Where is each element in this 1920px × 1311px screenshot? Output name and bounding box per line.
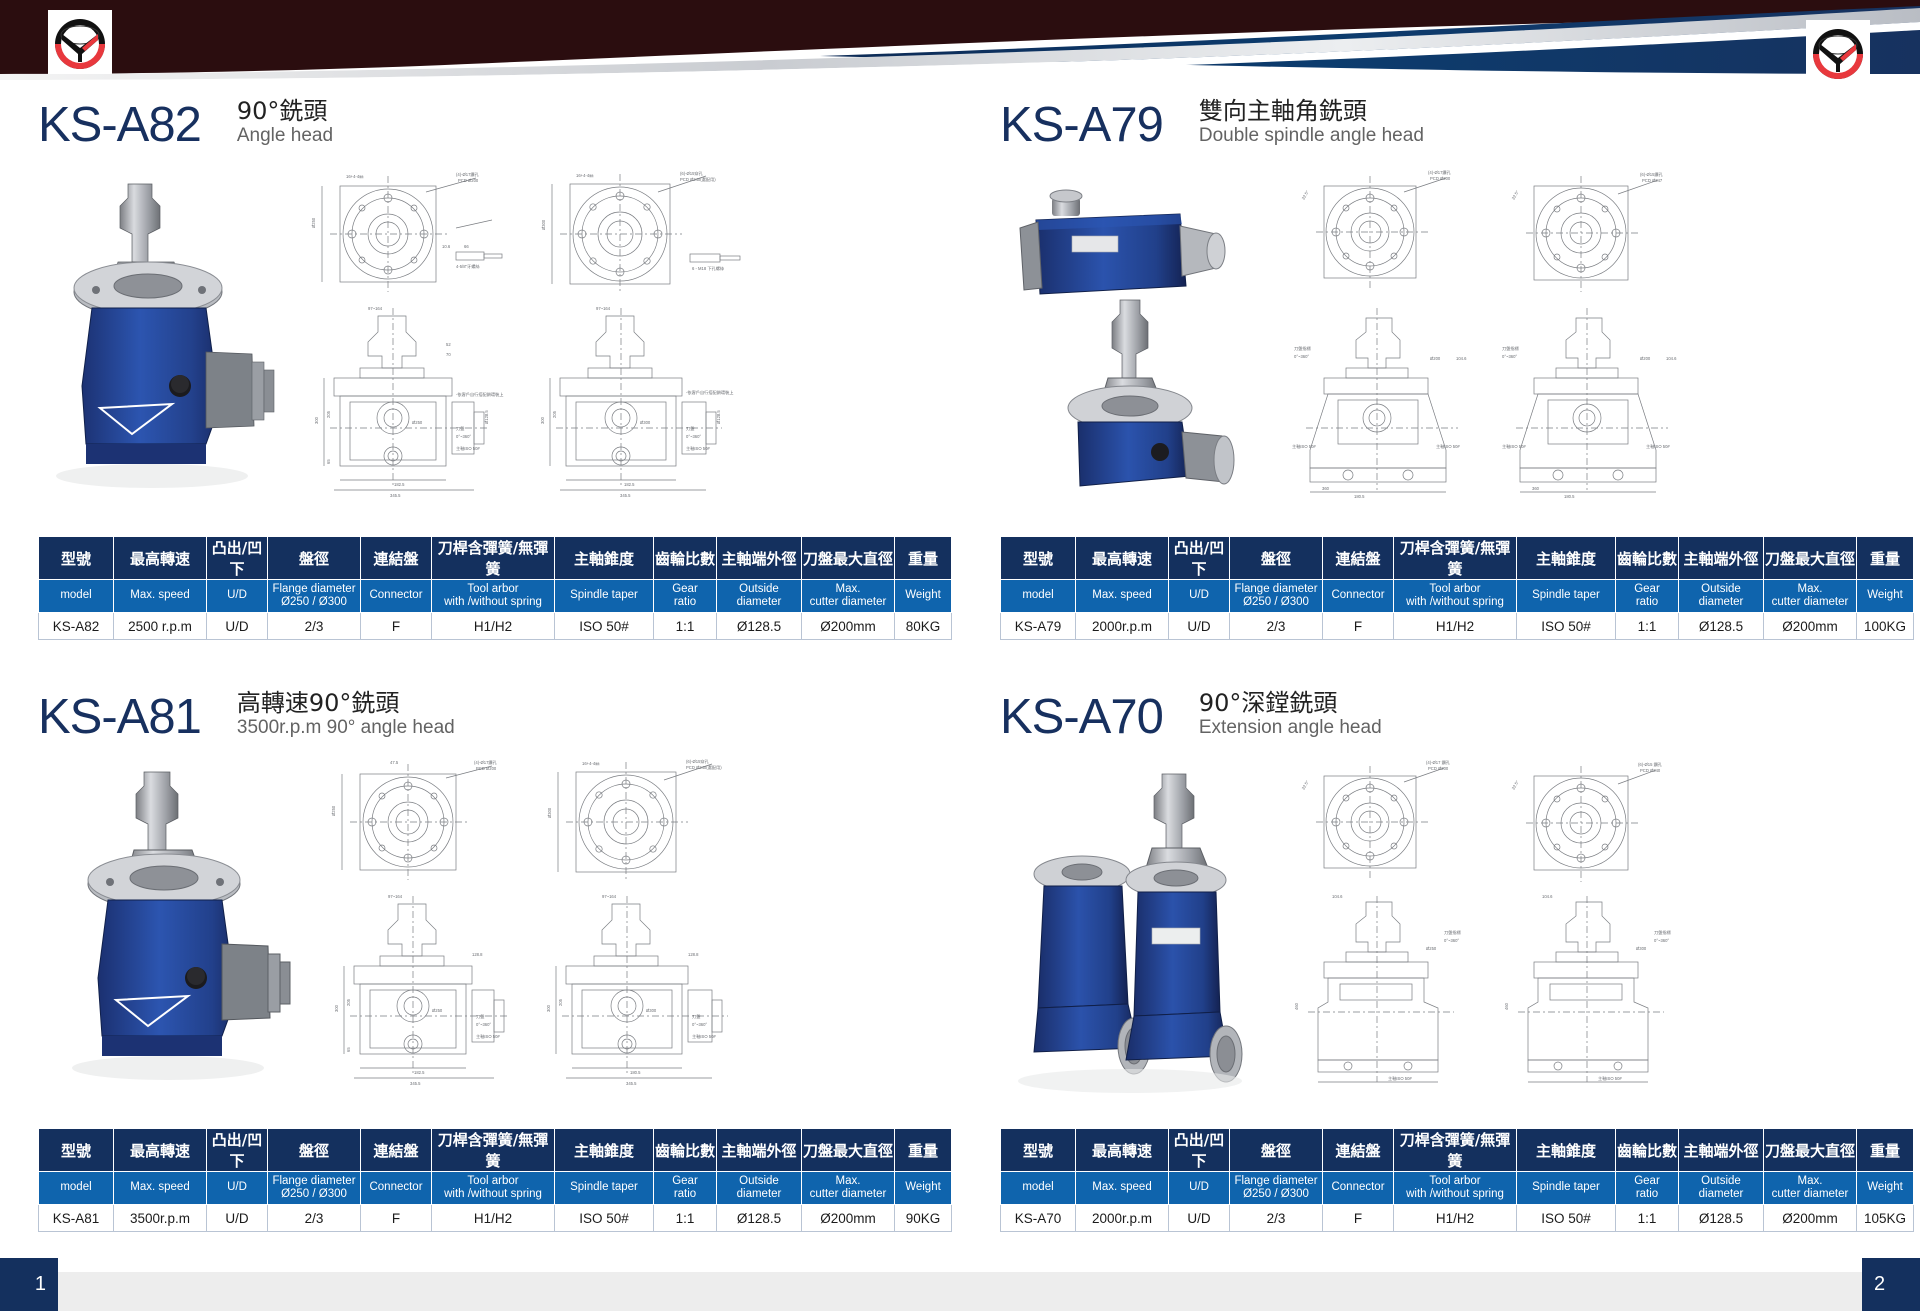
cell-max-speed: 2000r.p.m bbox=[1076, 613, 1169, 640]
spec-table-ks-a70: 型號 最高轉速 凸出/凹下 盤徑 連結盤 刀桿含彈簧/無彈簧 主軸錐度 齒輪比數… bbox=[1000, 1128, 1914, 1232]
svg-text:205: 205 bbox=[346, 998, 351, 1006]
svg-text:主軸ISO 50#: 主軸ISO 50# bbox=[1436, 443, 1460, 450]
svg-text:(6)-Ø15穿孔: (6)-Ø15穿孔 bbox=[686, 758, 710, 765]
th-en-connector: Connector bbox=[1323, 1172, 1394, 1205]
cell-tool-arbor: H1/H2 bbox=[432, 1205, 555, 1232]
svg-text:205: 205 bbox=[558, 998, 563, 1006]
logo-left bbox=[48, 10, 112, 74]
th-cn-max-speed: 最高轉速 bbox=[114, 1129, 207, 1172]
th-en-ud: U/D bbox=[207, 580, 268, 613]
cell-cutter-dia: Ø200mm bbox=[802, 1205, 895, 1232]
th-en-tool-arbor: Tool arborwith /without spring bbox=[1394, 1172, 1517, 1205]
svg-text:Ø300: Ø300 bbox=[1636, 946, 1647, 951]
technical-drawing-face-view: (4)-Ø17鑽孔PCD Ø200 47.5 Ø250 bbox=[326, 756, 536, 882]
th-cn-ud: 凸出/凹下 bbox=[1169, 537, 1230, 580]
footer-bar bbox=[0, 1272, 1920, 1311]
svg-text:345.5: 345.5 bbox=[390, 493, 401, 498]
product-block-ks-a82: KS-A82 90°銑頭 Angle head bbox=[38, 88, 943, 640]
technical-drawing-section-view-alt: 97~164 128.8 刀盤0°~360° 主軸ISO 50# 180.5 3… bbox=[536, 886, 764, 1086]
table-header-row-cn: 型號 最高轉速 凸出/凹下 盤徑 連結盤 刀桿含彈簧/無彈簧 主軸錐度 齒輪比數… bbox=[1001, 1129, 1914, 1172]
svg-text:刀盤指標: 刀盤指標 bbox=[1444, 929, 1462, 936]
svg-text:刀盤指標: 刀盤指標 bbox=[1294, 345, 1312, 352]
technical-drawing-section-view: 97~164 5270 -依客戶自行搭配鎖環裝上 刀盤0°~360° 主軸ISO… bbox=[306, 298, 522, 498]
th-en-max-speed: Max. speed bbox=[114, 1172, 207, 1205]
svg-text:97~164: 97~164 bbox=[368, 306, 383, 311]
th-en-flange: Flange diameterØ250 / Ø300 bbox=[268, 1172, 361, 1205]
svg-text:22.5°: 22.5° bbox=[1511, 779, 1520, 790]
th-cn-spindle-taper: 主軸錐度 bbox=[555, 537, 654, 580]
th-cn-max-speed: 最高轉速 bbox=[1076, 1129, 1169, 1172]
product-model-name: KS-A70 bbox=[1000, 693, 1163, 742]
th-en-model: model bbox=[39, 1172, 114, 1205]
svg-text:Ø250: Ø250 bbox=[412, 420, 423, 425]
cell-max-speed: 2000r.p.m bbox=[1076, 1205, 1169, 1232]
technical-drawing-section-view: Ø200104.6 刀盤指標0°~360° 主軸ISO 50# 主軸ISO 50… bbox=[1288, 300, 1488, 500]
cell-model: KS-A82 bbox=[39, 613, 114, 640]
th-en-ud: U/D bbox=[1169, 580, 1230, 613]
svg-text:Ø250: Ø250 bbox=[311, 217, 316, 228]
page-number-right: 2 bbox=[1862, 1258, 1920, 1311]
th-cn-model: 型號 bbox=[1001, 1129, 1076, 1172]
th-cn-outside-dia: 主軸端外徑 bbox=[717, 1129, 802, 1172]
th-cn-model: 型號 bbox=[39, 537, 114, 580]
svg-text:主軸ISO 50#: 主軸ISO 50# bbox=[1292, 443, 1316, 450]
th-cn-connector: 連結盤 bbox=[1323, 537, 1394, 580]
svg-text:刀盤: 刀盤 bbox=[476, 1013, 485, 1020]
cell-outside-dia: Ø128.5 bbox=[717, 1205, 802, 1232]
th-en-spindle-taper: Spindle taper bbox=[555, 580, 654, 613]
svg-text:16+4-4㎜: 16+4-4㎜ bbox=[576, 173, 594, 178]
svg-text:Ø128.5: Ø128.5 bbox=[716, 410, 721, 424]
cell-ud: U/D bbox=[1169, 613, 1230, 640]
svg-text:4-5/8"牙螺絲: 4-5/8"牙螺絲 bbox=[456, 263, 480, 270]
th-en-gear-ratio: Gearratio bbox=[654, 580, 717, 613]
cell-weight: 80KG bbox=[895, 613, 952, 640]
svg-text:刀盤: 刀盤 bbox=[686, 425, 695, 432]
svg-text:0°~360°: 0°~360° bbox=[692, 1022, 707, 1027]
th-cn-model: 型號 bbox=[1001, 537, 1076, 580]
th-cn-cutter-dia: 刀盤最大直徑 bbox=[1764, 1129, 1857, 1172]
svg-text:PCD Ø240: PCD Ø240 bbox=[1640, 768, 1661, 773]
technical-drawing-face-view-alt: (6)-Ø15 鑽孔PCD Ø240 22.5° bbox=[1498, 756, 1698, 886]
table-header-row-en: model Max. speed U/D Flange diameterØ250… bbox=[39, 580, 952, 613]
svg-text:主軸ISO 50#: 主軸ISO 50# bbox=[1598, 1075, 1622, 1082]
cell-weight: 105KG bbox=[1857, 1205, 1914, 1232]
th-en-spindle-taper: Spindle taper bbox=[1517, 1172, 1616, 1205]
svg-text:PCD Ø200: PCD Ø200 bbox=[458, 178, 479, 183]
cell-ud: U/D bbox=[1169, 1205, 1230, 1232]
svg-text:65: 65 bbox=[346, 1047, 351, 1052]
svg-text:PCD Ø200: PCD Ø200 bbox=[1428, 766, 1449, 771]
th-cn-cutter-dia: 刀盤最大直徑 bbox=[802, 537, 895, 580]
th-en-connector: Connector bbox=[361, 1172, 432, 1205]
svg-text:0°~360°: 0°~360° bbox=[1294, 354, 1309, 359]
svg-text:182.5: 182.5 bbox=[414, 1070, 425, 1075]
th-cn-flange: 盤徑 bbox=[268, 537, 361, 580]
svg-text:180.5: 180.5 bbox=[1354, 494, 1365, 499]
svg-text:(6)-Ø15 鑽孔: (6)-Ø15 鑽孔 bbox=[1638, 761, 1663, 768]
product-title-row: KS-A79 雙向主軸角銑頭 Double spindle angle head bbox=[1000, 88, 1905, 150]
cell-gear-ratio: 1:1 bbox=[1616, 613, 1679, 640]
product-photo bbox=[68, 766, 318, 1106]
company-logo-icon bbox=[1806, 20, 1870, 84]
svg-text:Ø250: Ø250 bbox=[432, 1008, 443, 1013]
th-cn-spindle-taper: 主軸錐度 bbox=[555, 1129, 654, 1172]
th-cn-gear-ratio: 齒輪比數 bbox=[654, 537, 717, 580]
th-en-ud: U/D bbox=[207, 1172, 268, 1205]
spec-table-ks-a81: 型號 最高轉速 凸出/凹下 盤徑 連結盤 刀桿含彈簧/無彈簧 主軸錐度 齒輪比數… bbox=[38, 1128, 952, 1232]
cell-outside-dia: Ø128.5 bbox=[1679, 613, 1764, 640]
technical-drawing-face-view: (4)-Ø17鑽孔PCD Ø200 16+4-4㎜ 4-5/8"牙螺絲 10.6… bbox=[306, 168, 522, 294]
technical-drawing-face-view-alt: (6)-Ø15鑽孔PCD Ø247 22.5° bbox=[1498, 166, 1698, 296]
cell-outside-dia: Ø128.5 bbox=[1679, 1205, 1764, 1232]
svg-text:PCD Ø200: PCD Ø200 bbox=[476, 766, 497, 771]
cell-gear-ratio: 1:1 bbox=[654, 1205, 717, 1232]
cell-gear-ratio: 1:1 bbox=[654, 613, 717, 640]
svg-text:182.5: 182.5 bbox=[394, 482, 405, 487]
svg-text:104.6: 104.6 bbox=[1666, 356, 1677, 361]
svg-text:0°~360°: 0°~360° bbox=[1502, 354, 1517, 359]
technical-drawing-face-view: (4)-Ø17鑽孔PCD Ø200 22.5° bbox=[1288, 166, 1488, 296]
cell-flange: 2/3 bbox=[1230, 613, 1323, 640]
svg-text:345.5: 345.5 bbox=[410, 1081, 421, 1086]
th-en-max-speed: Max. speed bbox=[114, 580, 207, 613]
product-photo bbox=[1010, 164, 1270, 514]
th-cn-flange: 盤徑 bbox=[1230, 1129, 1323, 1172]
figure-area: (4)-Ø17 鑽孔PCD Ø200 22.5° bbox=[1000, 750, 1905, 1122]
svg-text:104.6: 104.6 bbox=[1456, 356, 1467, 361]
svg-text:182.5: 182.5 bbox=[624, 482, 635, 487]
figure-area: (4)-Ø17鑽孔PCD Ø200 47.5 Ø250 bbox=[38, 750, 943, 1122]
cell-spindle-taper: ISO 50# bbox=[1517, 1205, 1616, 1232]
svg-text:128.8: 128.8 bbox=[688, 952, 699, 957]
th-en-gear-ratio: Gearratio bbox=[1616, 1172, 1679, 1205]
product-model-name: KS-A82 bbox=[38, 101, 201, 150]
svg-text:10.6: 10.6 bbox=[442, 244, 451, 249]
th-cn-weight: 重量 bbox=[895, 537, 952, 580]
svg-text:0°~360°: 0°~360° bbox=[1654, 938, 1669, 943]
th-cn-weight: 重量 bbox=[895, 1129, 952, 1172]
th-cn-connector: 連結盤 bbox=[361, 1129, 432, 1172]
spec-table-ks-a82: 型號 最高轉速 凸出/凹下 盤徑 連結盤 刀桿含彈簧/無彈簧 主軸錐度 齒輪比數… bbox=[38, 536, 952, 640]
th-cn-tool-arbor: 刀桿含彈簧/無彈簧 bbox=[432, 537, 555, 580]
technical-drawing-face-view-alt: (6)-Ø15穿孔PCD Ø240(選配用) 16+4-4㎜ 6 - M18 下… bbox=[530, 168, 760, 294]
th-en-connector: Connector bbox=[1323, 580, 1394, 613]
th-cn-model: 型號 bbox=[39, 1129, 114, 1172]
svg-text:16+4-4㎜: 16+4-4㎜ bbox=[582, 761, 600, 766]
svg-text:Ø250: Ø250 bbox=[331, 805, 336, 816]
technical-drawing-face-view: (4)-Ø17 鑽孔PCD Ø200 22.5° bbox=[1288, 756, 1488, 886]
svg-text:PCD Ø247: PCD Ø247 bbox=[1642, 178, 1663, 183]
header-banner-graphic bbox=[0, 0, 1920, 96]
technical-drawing-section-view: 97~164 128.8 刀盤0°~360° 主軸ISO 50# 182.5 3… bbox=[326, 886, 536, 1086]
svg-text:16+4-4㎜: 16+4-4㎜ bbox=[346, 174, 364, 179]
svg-text:104.6: 104.6 bbox=[1332, 894, 1343, 899]
th-en-cutter-dia: Max.cutter diameter bbox=[1764, 1172, 1857, 1205]
cell-tool-arbor: H1/H2 bbox=[432, 613, 555, 640]
cell-max-speed: 2500 r.p.m bbox=[114, 613, 207, 640]
table-header-row-en: model Max. speed U/D Flange diameterØ250… bbox=[39, 1172, 952, 1205]
th-en-gear-ratio: Gearratio bbox=[1616, 580, 1679, 613]
th-en-outside-dia: Outsidediameter bbox=[1679, 580, 1764, 613]
page-number-left: 1 bbox=[0, 1258, 58, 1311]
svg-text:0°~360°: 0°~360° bbox=[1444, 938, 1459, 943]
th-en-spindle-taper: Spindle taper bbox=[1517, 580, 1616, 613]
svg-text:PCD Ø240(選配用): PCD Ø240(選配用) bbox=[680, 176, 716, 183]
svg-text:0°~360°: 0°~360° bbox=[686, 434, 701, 439]
svg-text:刀盤: 刀盤 bbox=[692, 1013, 701, 1020]
th-cn-spindle-taper: 主軸錐度 bbox=[1517, 1129, 1616, 1172]
product-title-row: KS-A81 高轉速90°銑頭 3500r.p.m 90° angle head bbox=[38, 680, 943, 742]
product-title-cn: 雙向主軸角銑頭 bbox=[1199, 98, 1424, 126]
svg-text:22.5°: 22.5° bbox=[1301, 779, 1310, 790]
product-title-en: 3500r.p.m 90° angle head bbox=[237, 717, 455, 740]
table-row: KS-A82 2500 r.p.m U/D 2/3 F H1/H2 ISO 50… bbox=[39, 613, 952, 640]
cell-cutter-dia: Ø200mm bbox=[802, 613, 895, 640]
svg-text:Ø250: Ø250 bbox=[1426, 946, 1437, 951]
svg-text:主軸ISO 50#: 主軸ISO 50# bbox=[692, 1033, 716, 1040]
th-en-flange: Flange diameterØ250 / Ø300 bbox=[1230, 580, 1323, 613]
svg-text:22.5°: 22.5° bbox=[1301, 189, 1310, 200]
svg-text:Ø300: Ø300 bbox=[640, 420, 651, 425]
cell-tool-arbor: H1/H2 bbox=[1394, 613, 1517, 640]
th-cn-flange: 盤徑 bbox=[1230, 537, 1323, 580]
table-header-row-cn: 型號 最高轉速 凸出/凹下 盤徑 連結盤 刀桿含彈簧/無彈簧 主軸錐度 齒輪比數… bbox=[39, 537, 952, 580]
svg-text:70: 70 bbox=[446, 352, 451, 357]
th-cn-spindle-taper: 主軸錐度 bbox=[1517, 537, 1616, 580]
table-row: KS-A79 2000r.p.m U/D 2/3 F H1/H2 ISO 50#… bbox=[1001, 613, 1914, 640]
product-title-cn: 90°銑頭 bbox=[237, 98, 333, 126]
th-en-tool-arbor: Tool arborwith /without spring bbox=[432, 580, 555, 613]
svg-text:(4)-Ø17鑽孔: (4)-Ø17鑽孔 bbox=[474, 759, 498, 766]
cell-weight: 90KG bbox=[895, 1205, 952, 1232]
th-cn-cutter-dia: 刀盤最大直徑 bbox=[802, 1129, 895, 1172]
svg-text:97~164: 97~164 bbox=[596, 306, 611, 311]
cell-spindle-taper: ISO 50# bbox=[555, 1205, 654, 1232]
svg-text:(4)-Ø17 鑽孔: (4)-Ø17 鑽孔 bbox=[1426, 759, 1451, 766]
table-row: KS-A81 3500r.p.m U/D 2/3 F H1/H2 ISO 50#… bbox=[39, 1205, 952, 1232]
technical-drawing-section-view-alt: Ø300 刀盤指標0°~360° 主軸ISO 50# 460 104.6 bbox=[1498, 890, 1698, 1090]
th-cn-gear-ratio: 齒輪比數 bbox=[1616, 1129, 1679, 1172]
th-en-flange: Flange diameterØ250 / Ø300 bbox=[1230, 1172, 1323, 1205]
th-en-model: model bbox=[1001, 580, 1076, 613]
svg-text:300: 300 bbox=[546, 1004, 551, 1012]
cell-tool-arbor: H1/H2 bbox=[1394, 1205, 1517, 1232]
th-cn-weight: 重量 bbox=[1857, 537, 1914, 580]
cell-flange: 2/3 bbox=[1230, 1205, 1323, 1232]
svg-text:主軸ISO 50#: 主軸ISO 50# bbox=[1646, 443, 1670, 450]
svg-text:-依客戶自行搭配鎖環裝上: -依客戶自行搭配鎖環裝上 bbox=[456, 391, 503, 398]
th-en-cutter-dia: Max.cutter diameter bbox=[802, 1172, 895, 1205]
svg-text:主軸ISO 50#: 主軸ISO 50# bbox=[1388, 1075, 1412, 1082]
th-cn-outside-dia: 主軸端外徑 bbox=[717, 537, 802, 580]
product-title-row: KS-A70 90°深鏜銑頭 Extension angle head bbox=[1000, 680, 1905, 742]
svg-text:300: 300 bbox=[540, 416, 545, 424]
cell-connector: F bbox=[361, 613, 432, 640]
svg-text:-依客戶自行搭配鎖環裝上: -依客戶自行搭配鎖環裝上 bbox=[686, 389, 733, 396]
svg-text:205: 205 bbox=[552, 410, 557, 418]
cell-connector: F bbox=[1323, 613, 1394, 640]
cell-cutter-dia: Ø200mm bbox=[1764, 613, 1857, 640]
th-cn-max-speed: 最高轉速 bbox=[1076, 537, 1169, 580]
svg-text:Ø200: Ø200 bbox=[1640, 356, 1651, 361]
svg-text:180.5: 180.5 bbox=[630, 1070, 641, 1075]
svg-text:刀盤: 刀盤 bbox=[456, 425, 465, 432]
svg-text:205: 205 bbox=[326, 410, 331, 418]
svg-text:97~164: 97~164 bbox=[602, 894, 617, 899]
th-en-model: model bbox=[1001, 1172, 1076, 1205]
svg-text:0°~360°: 0°~360° bbox=[456, 434, 471, 439]
svg-text:6 - M18 下孔螺絲: 6 - M18 下孔螺絲 bbox=[692, 265, 725, 272]
svg-text:360: 360 bbox=[1322, 486, 1330, 491]
cell-flange: 2/3 bbox=[268, 1205, 361, 1232]
cell-flange: 2/3 bbox=[268, 613, 361, 640]
svg-text:460: 460 bbox=[1504, 1002, 1509, 1010]
product-block-ks-a70: KS-A70 90°深鏜銑頭 Extension angle head bbox=[1000, 680, 1905, 1232]
logo-right bbox=[1806, 20, 1870, 84]
th-cn-max-speed: 最高轉速 bbox=[114, 537, 207, 580]
th-en-tool-arbor: Tool arborwith /without spring bbox=[432, 1172, 555, 1205]
svg-text:52: 52 bbox=[446, 342, 451, 347]
table-header-row-cn: 型號 最高轉速 凸出/凹下 盤徑 連結盤 刀桿含彈簧/無彈簧 主軸錐度 齒輪比數… bbox=[1001, 537, 1914, 580]
svg-text:PCD Ø200: PCD Ø200 bbox=[1430, 176, 1451, 181]
th-en-spindle-taper: Spindle taper bbox=[555, 1172, 654, 1205]
cell-spindle-taper: ISO 50# bbox=[555, 613, 654, 640]
product-block-ks-a79: KS-A79 雙向主軸角銑頭 Double spindle angle head bbox=[1000, 88, 1905, 640]
th-en-model: model bbox=[39, 580, 114, 613]
table-header-row-en: model Max. speed U/D Flange diameterØ250… bbox=[1001, 580, 1914, 613]
th-cn-outside-dia: 主軸端外徑 bbox=[1679, 1129, 1764, 1172]
product-title-en: Double spindle angle head bbox=[1199, 125, 1424, 148]
th-en-outside-dia: Outsidediameter bbox=[717, 580, 802, 613]
technical-drawing-section-view: Ø250 刀盤指標0°~360° 主軸ISO 50# 460 104.6 bbox=[1288, 890, 1488, 1090]
table-header-row-en: model Max. speed U/D Flange diameterØ250… bbox=[1001, 1172, 1914, 1205]
product-title-cn: 90°深鏜銑頭 bbox=[1199, 690, 1382, 718]
th-cn-flange: 盤徑 bbox=[268, 1129, 361, 1172]
th-en-gear-ratio: Gearratio bbox=[654, 1172, 717, 1205]
th-cn-gear-ratio: 齒輪比數 bbox=[1616, 537, 1679, 580]
th-en-tool-arbor: Tool arborwith /without spring bbox=[1394, 580, 1517, 613]
svg-text:345.5: 345.5 bbox=[626, 1081, 637, 1086]
th-cn-ud: 凸出/凹下 bbox=[1169, 1129, 1230, 1172]
technical-drawing-section-view-alt: Ø200104.6 刀盤指標0°~360° 主軸ISO 50# 主軸ISO 50… bbox=[1498, 300, 1698, 500]
th-cn-connector: 連結盤 bbox=[1323, 1129, 1394, 1172]
product-model-name: KS-A81 bbox=[38, 693, 201, 742]
cell-connector: F bbox=[1323, 1205, 1394, 1232]
th-en-connector: Connector bbox=[361, 580, 432, 613]
th-cn-ud: 凸出/凹下 bbox=[207, 1129, 268, 1172]
svg-text:Ø200: Ø200 bbox=[1430, 356, 1441, 361]
svg-text:128.8: 128.8 bbox=[472, 952, 483, 957]
svg-text:Ø300: Ø300 bbox=[547, 807, 552, 818]
page-header bbox=[0, 0, 1920, 96]
svg-text:0°~360°: 0°~360° bbox=[476, 1022, 491, 1027]
th-en-weight: Weight bbox=[1857, 1172, 1914, 1205]
svg-text:47.5: 47.5 bbox=[390, 760, 399, 765]
th-cn-connector: 連結盤 bbox=[361, 537, 432, 580]
th-en-ud: U/D bbox=[1169, 1172, 1230, 1205]
svg-text:104.6: 104.6 bbox=[1542, 894, 1553, 899]
cell-cutter-dia: Ø200mm bbox=[1764, 1205, 1857, 1232]
product-photo bbox=[56, 176, 296, 516]
th-en-max-speed: Max. speed bbox=[1076, 580, 1169, 613]
svg-text:主軸ISO 50#: 主軸ISO 50# bbox=[456, 445, 480, 452]
svg-text:主軸ISO 50#: 主軸ISO 50# bbox=[686, 445, 710, 452]
table-row: KS-A70 2000r.p.m U/D 2/3 F H1/H2 ISO 50#… bbox=[1001, 1205, 1914, 1232]
th-en-weight: Weight bbox=[895, 1172, 952, 1205]
th-cn-tool-arbor: 刀桿含彈簧/無彈簧 bbox=[432, 1129, 555, 1172]
cell-ud: U/D bbox=[207, 1205, 268, 1232]
svg-text:180.5: 180.5 bbox=[1564, 494, 1575, 499]
cell-model: KS-A81 bbox=[39, 1205, 114, 1232]
svg-text:Ø300: Ø300 bbox=[646, 1008, 657, 1013]
svg-text:97~164: 97~164 bbox=[388, 894, 403, 899]
figure-area: (4)-Ø17鑽孔PCD Ø200 22.5° bbox=[1000, 158, 1905, 530]
svg-text:刀盤指標: 刀盤指標 bbox=[1654, 929, 1672, 936]
spec-table-ks-a79: 型號 最高轉速 凸出/凹下 盤徑 連結盤 刀桿含彈簧/無彈簧 主軸錐度 齒輪比數… bbox=[1000, 536, 1914, 640]
product-title-en: Extension angle head bbox=[1199, 717, 1382, 740]
th-en-outside-dia: Outsidediameter bbox=[717, 1172, 802, 1205]
product-model-name: KS-A79 bbox=[1000, 101, 1163, 150]
svg-text:PCD Ø240(選配用): PCD Ø240(選配用) bbox=[686, 764, 722, 771]
svg-text:345.5: 345.5 bbox=[620, 493, 631, 498]
svg-text:65: 65 bbox=[326, 459, 331, 464]
table-header-row-cn: 型號 最高轉速 凸出/凹下 盤徑 連結盤 刀桿含彈簧/無彈簧 主軸錐度 齒輪比數… bbox=[39, 1129, 952, 1172]
th-en-outside-dia: Outsidediameter bbox=[1679, 1172, 1764, 1205]
cell-model: KS-A70 bbox=[1001, 1205, 1076, 1232]
svg-text:Ø128.5: Ø128.5 bbox=[484, 410, 489, 424]
th-cn-ud: 凸出/凹下 bbox=[207, 537, 268, 580]
th-cn-outside-dia: 主軸端外徑 bbox=[1679, 537, 1764, 580]
cell-max-speed: 3500r.p.m bbox=[114, 1205, 207, 1232]
product-title-cn: 高轉速90°銑頭 bbox=[237, 690, 455, 718]
th-cn-tool-arbor: 刀桿含彈簧/無彈簧 bbox=[1394, 537, 1517, 580]
product-title-row: KS-A82 90°銑頭 Angle head bbox=[38, 88, 943, 150]
th-en-cutter-dia: Max.cutter diameter bbox=[802, 580, 895, 613]
cell-ud: U/D bbox=[207, 613, 268, 640]
svg-text:300: 300 bbox=[314, 416, 319, 424]
cell-spindle-taper: ISO 50# bbox=[1517, 613, 1616, 640]
cell-weight: 100KG bbox=[1857, 613, 1914, 640]
technical-drawing-section-view-alt: 97~164 -依客戶自行搭配鎖環裝上 刀盤0°~360° 主軸ISO 50# … bbox=[530, 298, 760, 498]
cell-gear-ratio: 1:1 bbox=[1616, 1205, 1679, 1232]
th-en-cutter-dia: Max.cutter diameter bbox=[1764, 580, 1857, 613]
th-en-max-speed: Max. speed bbox=[1076, 1172, 1169, 1205]
svg-text:22.5°: 22.5° bbox=[1511, 189, 1520, 200]
svg-text:66: 66 bbox=[464, 244, 469, 249]
svg-text:(4)-Ø17鑽孔: (4)-Ø17鑽孔 bbox=[1428, 169, 1452, 176]
svg-text:360: 360 bbox=[1532, 486, 1540, 491]
svg-text:主軸ISO 50#: 主軸ISO 50# bbox=[1502, 443, 1526, 450]
company-logo-icon bbox=[48, 10, 112, 74]
svg-text:(6)-Ø15鑽孔: (6)-Ø15鑽孔 bbox=[1640, 171, 1664, 178]
product-block-ks-a81: KS-A81 高轉速90°銑頭 3500r.p.m 90° angle head bbox=[38, 680, 943, 1232]
th-cn-cutter-dia: 刀盤最大直徑 bbox=[1764, 537, 1857, 580]
svg-text:(6)-Ø15穿孔: (6)-Ø15穿孔 bbox=[680, 170, 704, 177]
th-cn-gear-ratio: 齒輪比數 bbox=[654, 1129, 717, 1172]
svg-text:刀盤指標: 刀盤指標 bbox=[1502, 345, 1520, 352]
th-en-flange: Flange diameterØ250 / Ø300 bbox=[268, 580, 361, 613]
svg-text:主軸ISO 50#: 主軸ISO 50# bbox=[476, 1033, 500, 1040]
cell-model: KS-A79 bbox=[1001, 613, 1076, 640]
svg-text:460: 460 bbox=[1294, 1002, 1299, 1010]
th-cn-weight: 重量 bbox=[1857, 1129, 1914, 1172]
figure-area: (4)-Ø17鑽孔PCD Ø200 16+4-4㎜ 4-5/8"牙螺絲 10.6… bbox=[38, 158, 943, 530]
th-cn-tool-arbor: 刀桿含彈簧/無彈簧 bbox=[1394, 1129, 1517, 1172]
svg-text:(4)-Ø17鑽孔: (4)-Ø17鑽孔 bbox=[456, 171, 480, 178]
product-photo bbox=[1010, 756, 1260, 1106]
th-en-weight: Weight bbox=[895, 580, 952, 613]
